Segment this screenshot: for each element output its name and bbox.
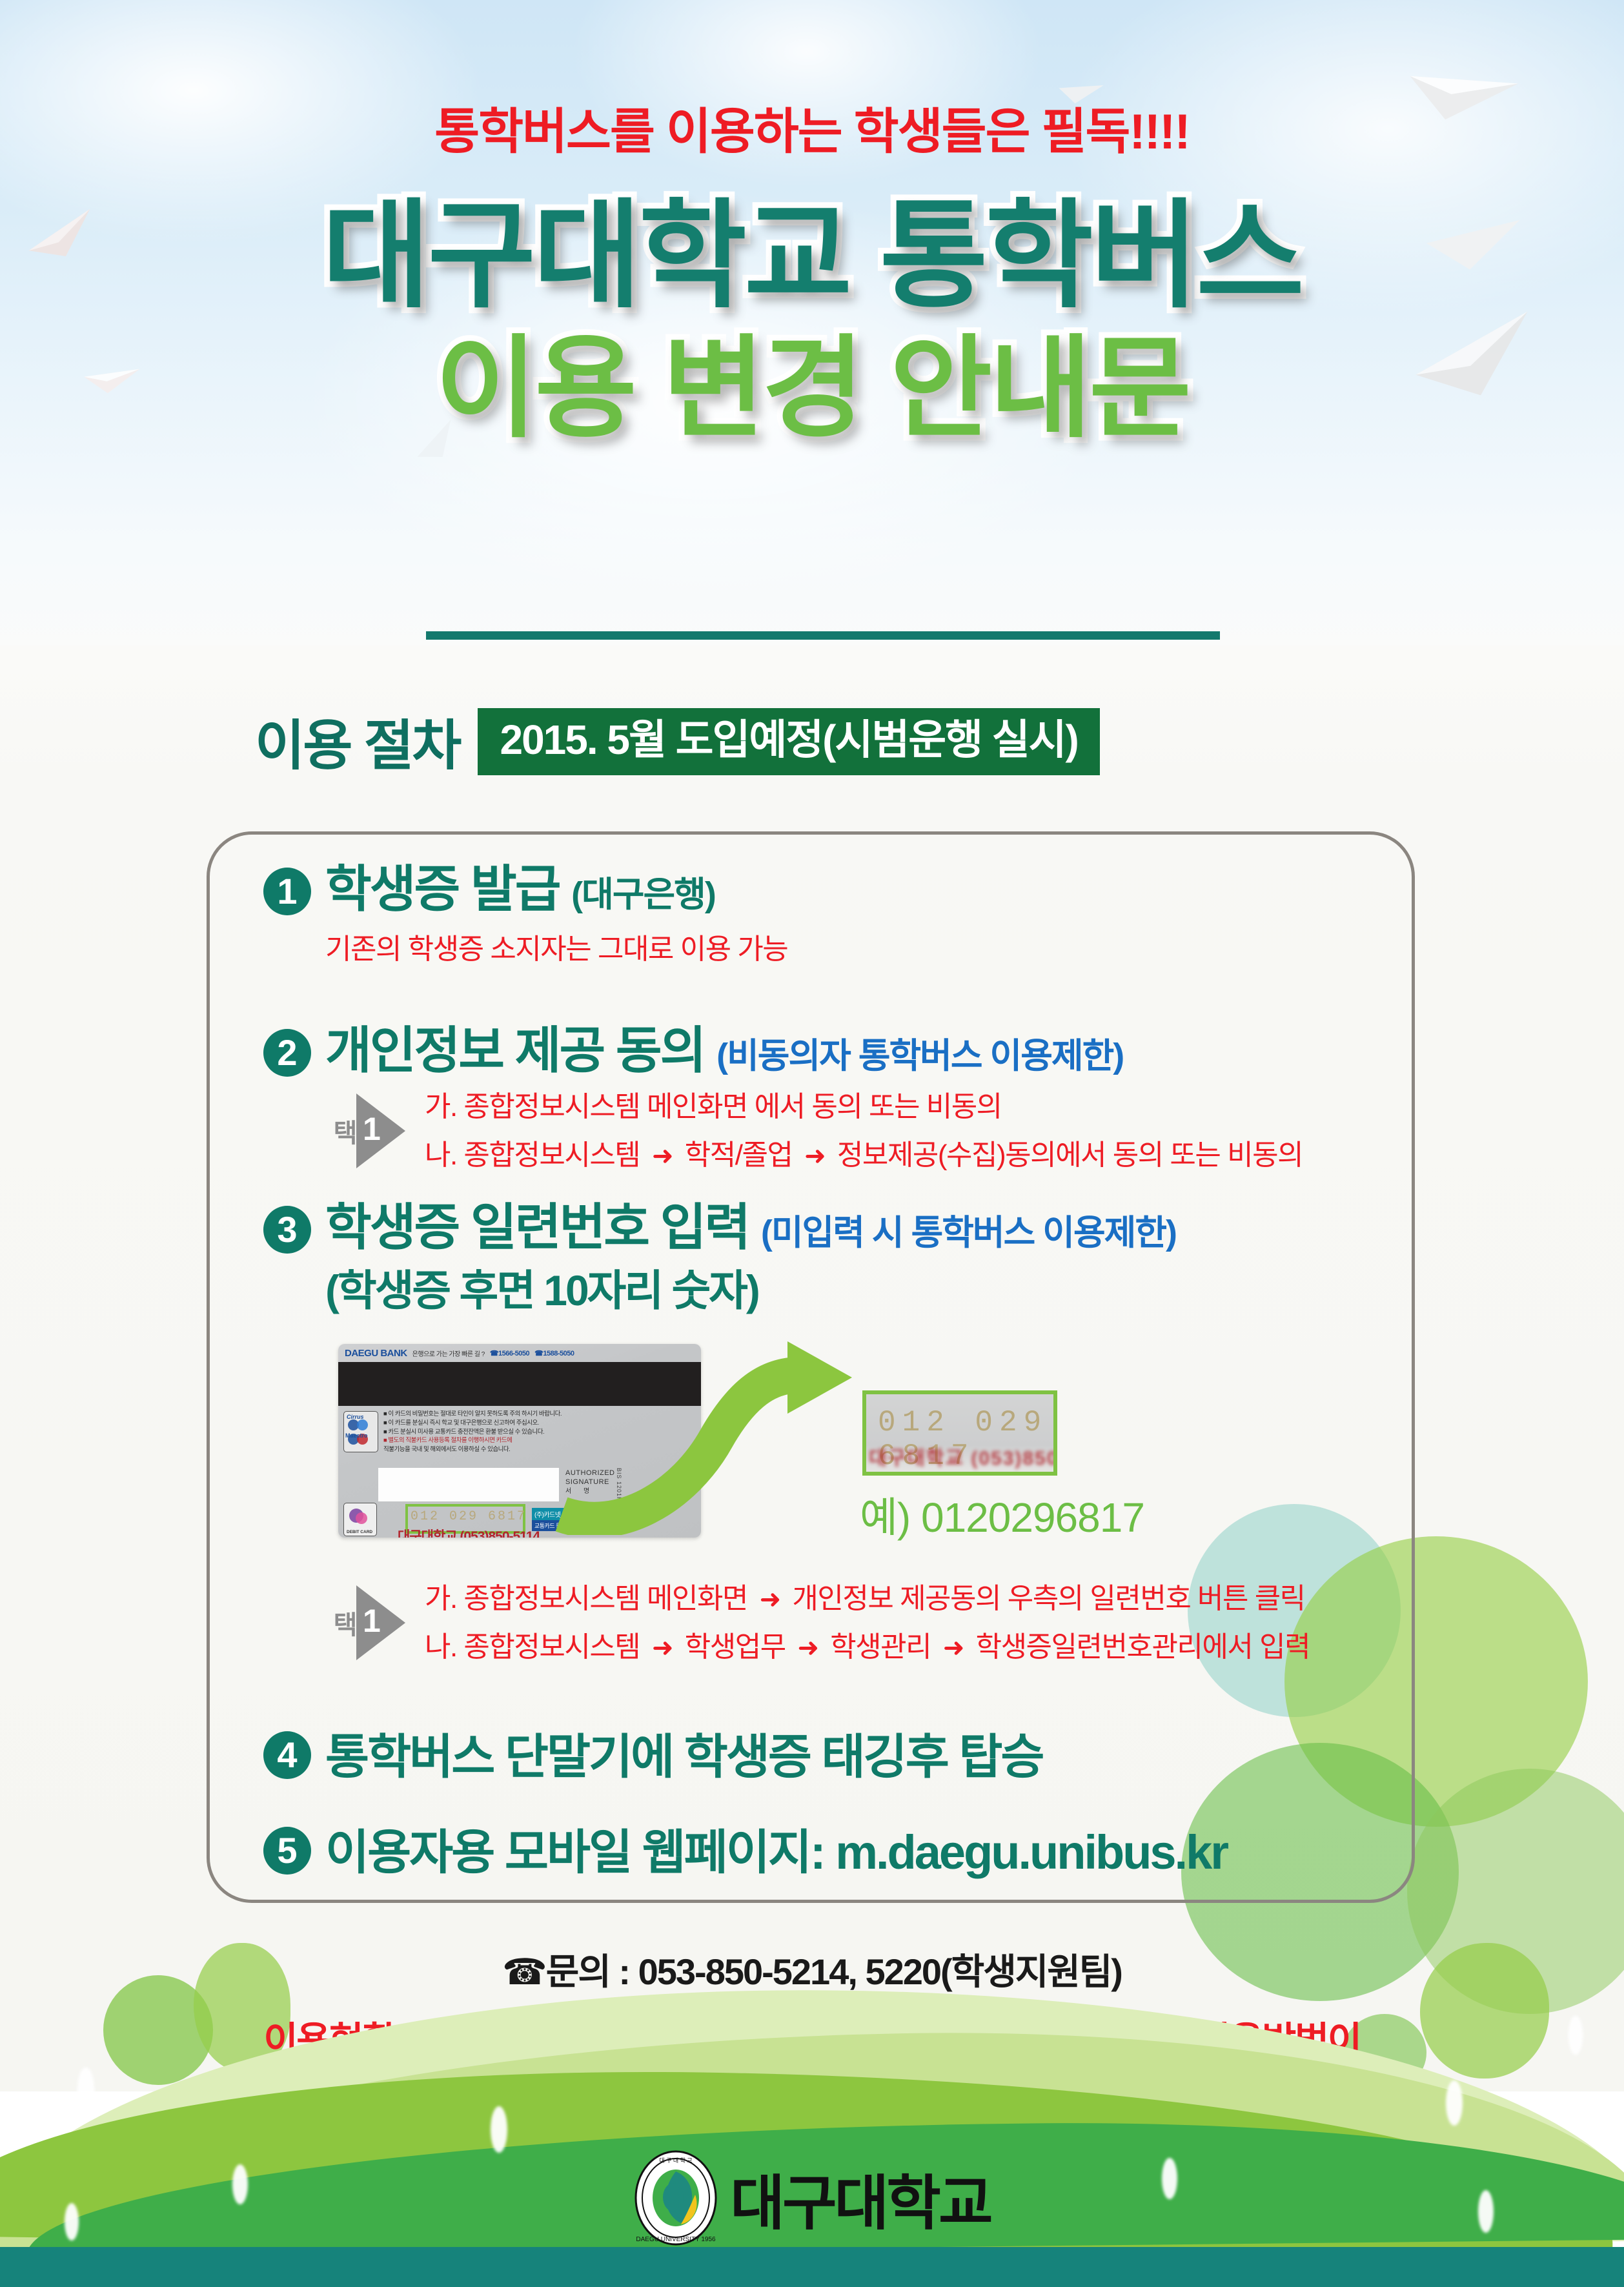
- step-1: 1 학생증 발급 (대구은행) 기존의 학생증 소지자는 그대로 이용 가능: [263, 864, 787, 967]
- pick2-line-a: 가. 종합정보시스템 메인화면 ➜ 개인정보 제공동의 우측의 일련번호 버튼 …: [425, 1583, 1310, 1614]
- arrow-icon: ➜: [647, 1634, 678, 1662]
- title-line-1: 대구대학교 통학버스: [0, 194, 1624, 318]
- university-logo: 대 구 대 학 교 DAEGU UNIVERSITY 1956 대구대학교: [0, 2150, 1624, 2246]
- step-number-badge: 5: [263, 1827, 311, 1875]
- arrow-icon: ➜: [755, 1585, 786, 1614]
- callout-blurred-text: 대구대학교 (053)850-5: [869, 1442, 1057, 1470]
- poster-title: 대구대학교 통학버스 이용 변경 안내문: [0, 194, 1624, 447]
- pick1-b-part-2: 정보제공(수집)동의에서 동의 또는 비동의: [837, 1139, 1303, 1171]
- card-bank-tagline: 은행으로 가는 가장 빠른 길 ?: [412, 1348, 485, 1358]
- section-label: 이용 절차: [255, 702, 460, 780]
- cirrus-maestro-logo-icon: Cirrus Maestro: [343, 1411, 378, 1452]
- step-number-badge: 2: [263, 1029, 311, 1077]
- pick1-b-part-0: 나. 종합정보시스템: [425, 1139, 640, 1171]
- pick2-a-part-1: 개인정보 제공동의 우측의 일련번호 버튼 클릭: [792, 1583, 1304, 1614]
- pick-count: 1: [363, 1113, 381, 1145]
- step-3: 3 학생증 일련번호 입력 (미입력 시 통학버스 이용제한) (학생증 후면 …: [263, 1202, 1176, 1318]
- arrow-icon: ➜: [799, 1142, 830, 1170]
- kicker-text: 통학버스를 이용하는 학생들은 필독!!!!: [0, 92, 1624, 163]
- step-3-title: 학생증 일련번호 입력 (미입력 시 통학버스 이용제한): [325, 1202, 1176, 1252]
- pick2-a-part-0: 가. 종합정보시스템 메인화면: [425, 1583, 747, 1614]
- pick-triangle-icon: 1: [356, 1093, 405, 1168]
- step-2-paren: (비동의자 통학버스 이용제한): [716, 1037, 1123, 1075]
- green-pointer-arrow-icon: [555, 1341, 858, 1538]
- card-serial-number: 012 029 6817: [411, 1509, 527, 1524]
- section-header: 이용 절차 2015. 5월 도입예정(시범운행 실시): [255, 702, 1100, 780]
- debit-card-logo-icon: DEBIT CARD: [343, 1503, 377, 1536]
- step-2-title-text: 개인정보 제공 동의: [325, 1022, 704, 1079]
- example-serial-text: 예) 0120296817: [860, 1485, 1144, 1544]
- serial-zoom-callout: 012 029 6817 대구대학교 (053)850-5: [862, 1390, 1057, 1476]
- step-4-title: 통학버스 단말기에 학생증 태깅후 탑승: [325, 1718, 1043, 1787]
- pick-one-group-1: 택 1 가. 종합정보시스템 메인화면 에서 동의 또는 비동의 나. 종합정보…: [330, 1091, 1303, 1172]
- card-university-line: 대구대학교 (053)850-5114: [398, 1526, 540, 1538]
- university-logo-text: 대구대학교: [730, 2155, 990, 2241]
- pick-one-marker: 택 1: [330, 1093, 405, 1168]
- step-3-title-text: 학생증 일련번호 입력: [325, 1199, 749, 1255]
- pick1-line-b: 나. 종합정보시스템 ➜ 학적/졸업 ➜ 정보제공(수집)동의에서 동의 또는 …: [425, 1139, 1303, 1171]
- arrow-icon: ➜: [792, 1634, 823, 1662]
- university-seal-icon: 대 구 대 학 교 DAEGU UNIVERSITY 1956: [633, 2150, 718, 2246]
- pick1-line-a: 가. 종합정보시스템 메인화면 에서 동의 또는 비동의: [425, 1091, 1303, 1123]
- card-tel-1: ☎1566-5050: [490, 1349, 529, 1357]
- step-2: 2 개인정보 제공 동의 (비동의자 통학버스 이용제한): [263, 1025, 1123, 1077]
- step-4: 4 통학버스 단말기에 학생증 태깅후 탑승: [263, 1718, 1043, 1787]
- step-1-paren: (대구은행): [571, 875, 715, 914]
- pick2-b-part-2: 학생관리: [830, 1631, 931, 1663]
- pick-one-marker: 택 1: [330, 1585, 405, 1660]
- section-badge: 2015. 5월 도입예정(시범운행 실시): [478, 708, 1099, 775]
- step-number-badge: 3: [263, 1206, 311, 1254]
- cirrus-label: Cirrus: [347, 1414, 364, 1420]
- step-5: 5 이용자용 모바일 웹페이지: m.daegu.unibus.kr: [263, 1814, 1227, 1883]
- debit-card-label: DEBIT CARD: [347, 1530, 372, 1534]
- pick-label: 택: [330, 1119, 355, 1143]
- pick-label: 택: [330, 1611, 355, 1634]
- arrow-icon: ➜: [647, 1142, 678, 1170]
- pick-one-group-2: 택 1 가. 종합정보시스템 메인화면 ➜ 개인정보 제공동의 우측의 일련번호…: [330, 1583, 1310, 1663]
- sparkle: [1568, 2016, 1583, 2055]
- title-divider: [426, 631, 1220, 640]
- maestro-label: Maestro: [345, 1432, 368, 1439]
- step-1-title: 학생증 발급 (대구은행): [325, 864, 787, 914]
- svg-text:DAEGU UNIVERSITY 1956: DAEGU UNIVERSITY 1956: [636, 2236, 716, 2243]
- card-bank-name: DAEGU BANK: [345, 1348, 407, 1359]
- poster-root: 통학버스를 이용하는 학생들은 필독!!!! 대구대학교 통학버스 이용 변경 …: [0, 0, 1624, 2287]
- step-5-title: 이용자용 모바일 웹페이지: m.daegu.unibus.kr: [325, 1814, 1227, 1883]
- arrow-icon: ➜: [938, 1634, 969, 1662]
- step-number-badge: 1: [263, 868, 311, 915]
- step-3-subtitle: (학생증 후면 10자리 숫자): [325, 1256, 1176, 1318]
- footer-teal-bar: [0, 2247, 1624, 2287]
- step-1-title-text: 학생증 발급: [325, 860, 559, 917]
- pick-triangle-icon: 1: [356, 1585, 405, 1660]
- card-signature-box: [378, 1468, 559, 1501]
- step-1-note: 기존의 학생증 소지자는 그대로 이용 가능: [325, 926, 787, 967]
- sparkle: [491, 2106, 507, 2153]
- pick2-line-b: 나. 종합정보시스템 ➜ 학생업무 ➜ 학생관리 ➜ 학생증일련번호관리에서 입…: [425, 1631, 1310, 1663]
- pick2-b-part-3: 학생증일련번호관리에서 입력: [976, 1631, 1310, 1663]
- step-2-title: 개인정보 제공 동의 (비동의자 통학버스 이용제한): [325, 1025, 1123, 1075]
- title-line-2: 이용 변경 안내문: [0, 330, 1624, 447]
- pick2-b-part-1: 학생업무: [685, 1631, 786, 1663]
- sparkle: [77, 2068, 94, 2113]
- sparkle: [1446, 2080, 1463, 2126]
- pick-count: 1: [363, 1605, 381, 1637]
- svg-text:대 구 대 학 교: 대 구 대 학 교: [660, 2157, 693, 2164]
- step-3-paren: (미입력 시 통학버스 이용제한): [761, 1214, 1176, 1252]
- pick2-b-part-0: 나. 종합정보시스템: [425, 1631, 640, 1663]
- pick1-b-part-1: 학적/졸업: [685, 1139, 793, 1171]
- step-number-badge: 4: [263, 1731, 311, 1779]
